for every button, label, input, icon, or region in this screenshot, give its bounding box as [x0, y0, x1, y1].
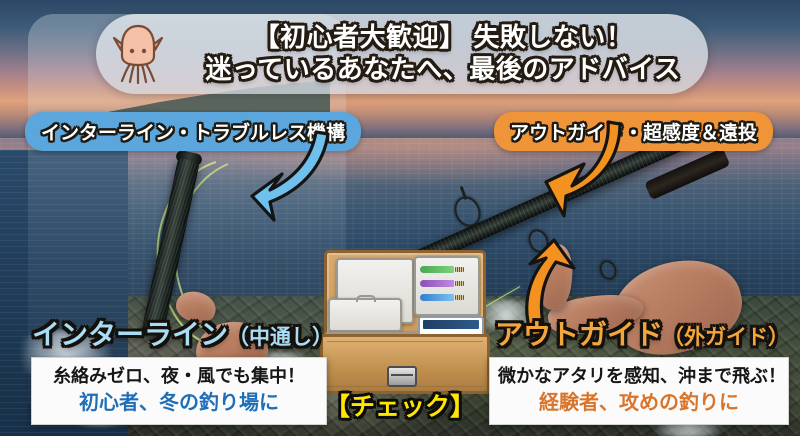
tackle-box[interactable] [318, 250, 486, 390]
egi-lure [420, 294, 454, 301]
tray-egi-upper [414, 256, 480, 316]
column-title-right-main: アウトガイド [495, 319, 663, 350]
egi-lure [420, 266, 454, 273]
headline-line-1: 【初心者大歓迎】 失敗しない！ [192, 22, 694, 54]
column-title-right: アウトガイド（外ガイド） [495, 313, 789, 353]
egi-lure [420, 280, 454, 287]
column-title-left: インターライン（中通し） [32, 313, 333, 353]
tray-lid-small [328, 298, 402, 332]
info-left-line-1: 糸絡みゼロ、夜・風でも集中！ [40, 365, 318, 388]
egi-tail [455, 295, 464, 300]
info-right-line-2: 経験者、攻めの釣りに [498, 390, 780, 416]
knot-card-title-bar [423, 320, 479, 329]
check-label: 【チェック】 [325, 387, 475, 423]
egi-tail [455, 267, 464, 272]
info-box-left: 糸絡みゼロ、夜・風でも集中！ 初心者、冬の釣り場に [31, 357, 327, 425]
headline-banner: 【初心者大歓迎】 失敗しない！ 迷っているあなたへ、最後のアドバイス [96, 14, 708, 94]
infographic-banner: 【初心者大歓迎】 失敗しない！ 迷っているあなたへ、最後のアドバイス インターラ… [0, 0, 800, 436]
blue-curved-arrow-down-left-icon [212, 128, 332, 228]
squid-icon [112, 22, 164, 84]
column-title-right-sub: （外ガイド） [663, 326, 789, 349]
tray-handle [356, 295, 376, 302]
info-right-line-1: 微かなアタリを感知、沖まで飛ぶ！ [498, 365, 780, 388]
tackle-box-latch[interactable] [387, 366, 417, 387]
egi-tail [455, 281, 464, 286]
headline-line-2: 迷っているあなたへ、最後のアドバイス [192, 54, 694, 86]
headline-text: 【初心者大歓迎】 失敗しない！ 迷っているあなたへ、最後のアドバイス [192, 22, 694, 85]
info-left-line-2: 初心者、冬の釣り場に [40, 390, 318, 416]
info-box-right: 微かなアタリを感知、沖まで飛ぶ！ 経験者、攻めの釣りに [489, 357, 789, 425]
column-title-left-sub: （中通し） [228, 326, 333, 349]
column-title-left-main: インターライン [32, 319, 228, 350]
orange-curved-arrow-down-icon [516, 120, 626, 225]
